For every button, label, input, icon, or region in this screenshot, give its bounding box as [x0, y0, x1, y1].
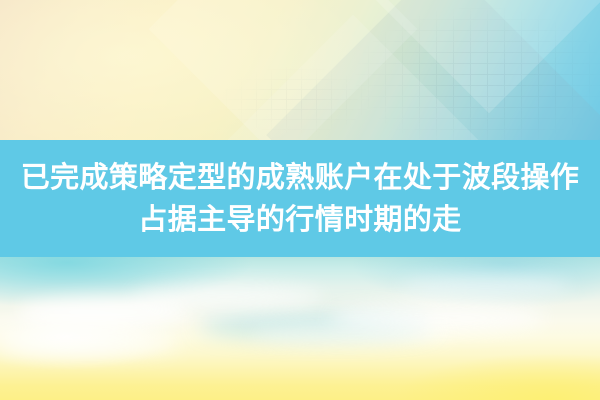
cloud-shape: [400, 275, 570, 297]
top-decorative-section: [0, 0, 600, 141]
banner-image: 已完成策略定型的成熟账户在处于波段操作占据主导的行情时期的走: [0, 0, 600, 400]
sun-glow-overlay: [260, 320, 600, 400]
sky-photo-background: [0, 257, 600, 400]
headline-title: 已完成策略定型的成熟账户在处于波段操作占据主导的行情时期的走: [10, 157, 590, 241]
cloud-highlight: [0, 303, 260, 371]
warm-glow-overlay: [0, 0, 600, 141]
headline-band: 已完成策略定型的成熟账户在处于波段操作占据主导的行情时期的走: [0, 140, 600, 257]
